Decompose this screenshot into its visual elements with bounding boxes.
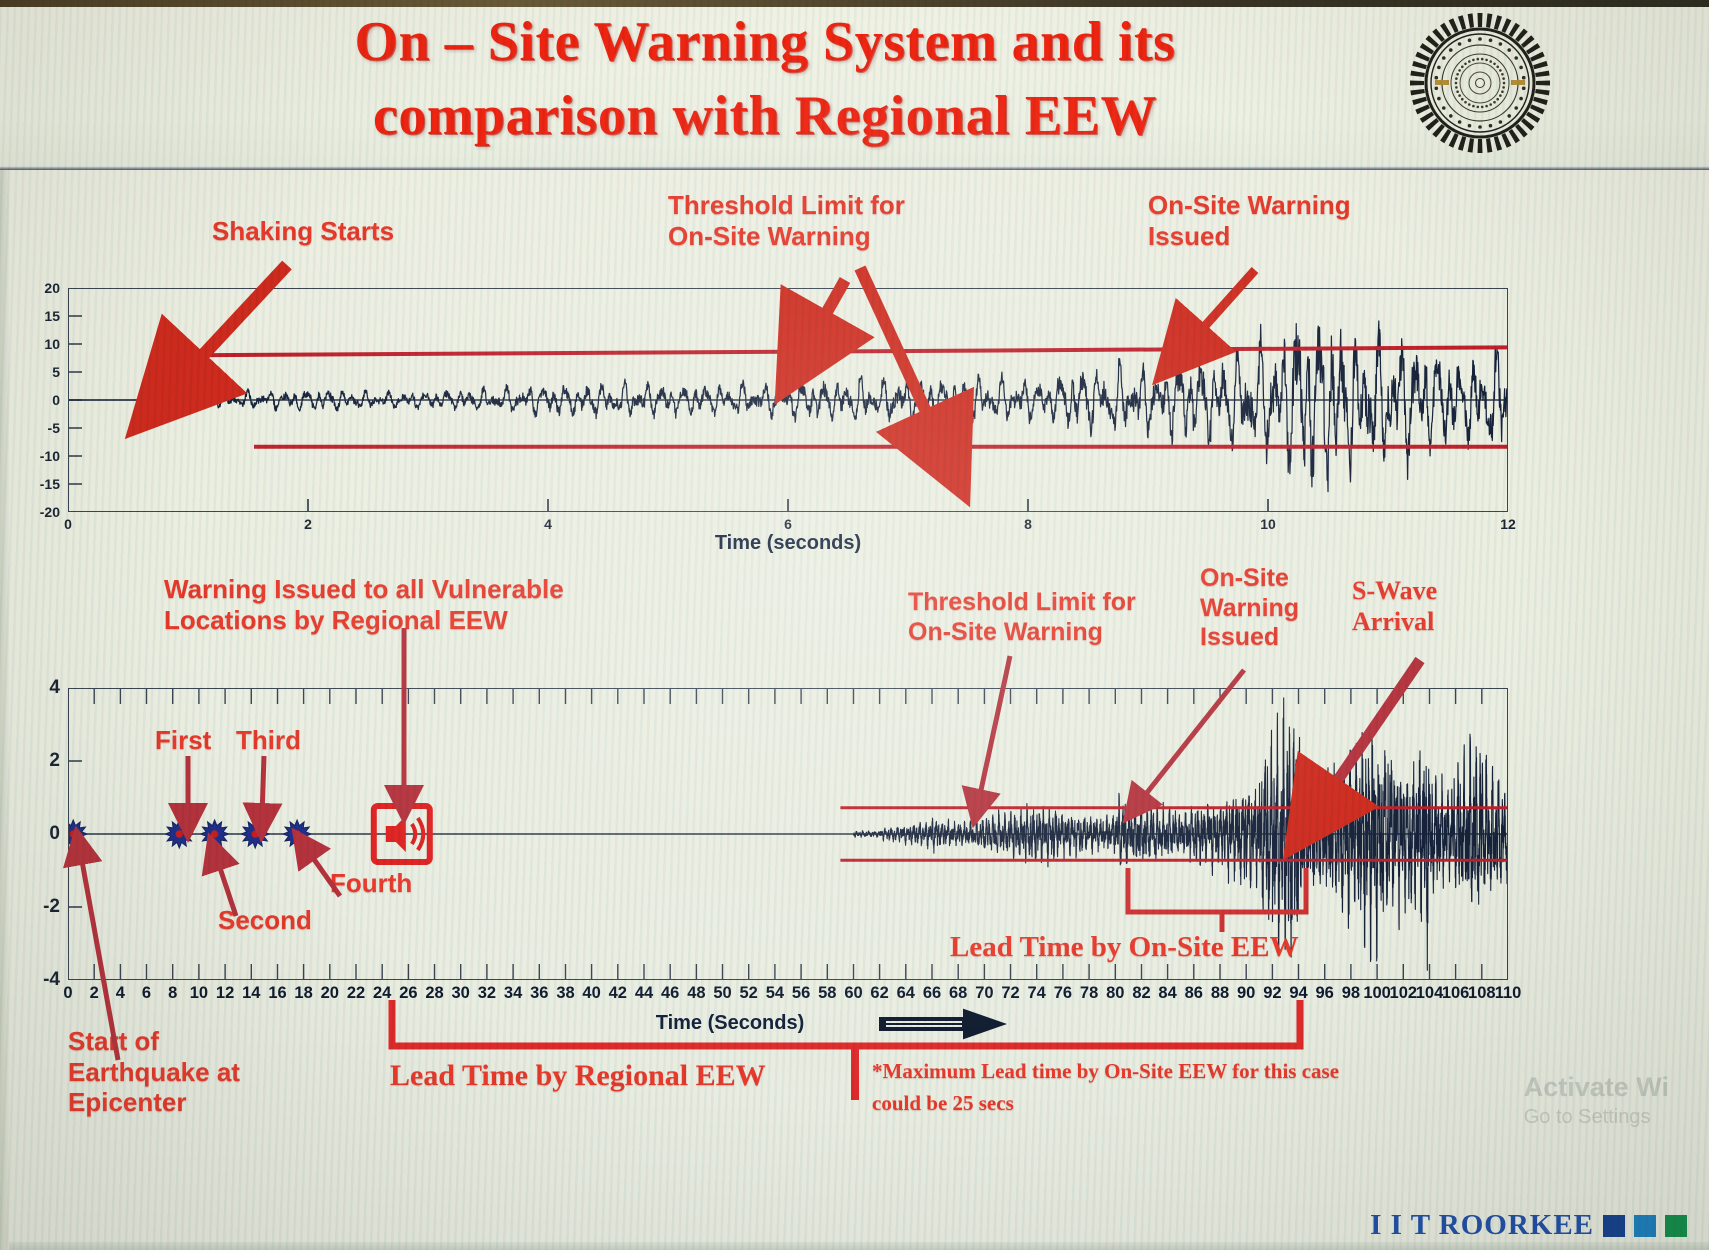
x-tick-label: 24 (373, 984, 391, 1003)
x-tick-label: 58 (818, 984, 836, 1003)
x-tick-label: 110 (1495, 984, 1522, 1003)
x-tick-label: 76 (1054, 984, 1072, 1003)
x-tick-label: 64 (897, 984, 915, 1003)
y-tick-label: 20 (44, 280, 60, 296)
annotation-fourth: Fourth (330, 868, 412, 899)
x-tick-label: 102 (1390, 984, 1418, 1003)
annotation-first: First (155, 725, 211, 756)
x-tick-label: 30 (452, 984, 470, 1003)
y-tick-label: -5 (48, 420, 60, 436)
windows-activate-watermark: Activate Wi Go to Settings (1524, 1071, 1669, 1130)
top-chart-accelerogram (68, 288, 1508, 512)
annotation-third: Third (236, 725, 301, 756)
annotation-threshold-limit-bottom: Threshold Limit for On-Site Warning (908, 588, 1188, 647)
x-tick-label: 80 (1106, 984, 1124, 1003)
bottom-chart-y-tick-labels: 420-2-4 (14, 688, 60, 980)
header-divider (0, 166, 1709, 170)
x-tick-label: 8 (1024, 516, 1032, 532)
page-title-line1: On – Site Warning System and its (150, 6, 1380, 80)
x-tick-label: 62 (870, 984, 888, 1003)
x-tick-label: 48 (687, 984, 705, 1003)
bottom-chart-x-axis-title: Time (Seconds) (560, 1012, 900, 1035)
x-tick-label: 104 (1416, 984, 1444, 1003)
annotation-shaking-starts: Shaking Starts (212, 216, 512, 247)
x-tick-label: 106 (1442, 984, 1470, 1003)
x-tick-label: 12 (1500, 516, 1516, 532)
top-chart-axis-frame (68, 288, 1508, 512)
y-tick-label: 5 (52, 364, 60, 380)
x-tick-label: 28 (425, 984, 443, 1003)
annotation-warning-issued-regional: Warning Issued to all Vulnerable Locatio… (164, 574, 684, 635)
page-title-line2: comparison with Regional EEW (150, 80, 1380, 154)
x-tick-label: 92 (1263, 984, 1281, 1003)
x-tick-label: 100 (1363, 984, 1391, 1003)
x-tick-label: 10 (190, 984, 208, 1003)
annotation-lead-time-onsite: Lead Time by On-Site EEW (950, 930, 1299, 964)
x-tick-label: 60 (844, 984, 862, 1003)
x-tick-label: 68 (949, 984, 967, 1003)
slide-header: On – Site Warning System and its compari… (0, 0, 1709, 170)
x-tick-label: 82 (1132, 984, 1150, 1003)
x-tick-label: 32 (478, 984, 496, 1003)
annotation-onsite-warning-issued-top: On-Site Warning Issued (1148, 190, 1448, 251)
brand-text: I I T ROORKEE (1370, 1209, 1594, 1242)
x-tick-label: 26 (399, 984, 417, 1003)
x-tick-label: 6 (784, 516, 792, 532)
x-tick-label: 72 (1001, 984, 1019, 1003)
y-tick-label: 0 (52, 392, 60, 408)
x-tick-label: 42 (609, 984, 627, 1003)
annotation-start-of-earthquake: Start of Earthquake at Epicenter (68, 1026, 318, 1118)
y-tick-label: 0 (49, 823, 60, 845)
x-tick-label: 66 (923, 984, 941, 1003)
x-tick-label: 84 (1158, 984, 1176, 1003)
x-tick-label: 4 (544, 516, 552, 532)
y-tick-label: -15 (40, 476, 60, 492)
page-title: On – Site Warning System and its compari… (150, 6, 1380, 154)
x-tick-label: 14 (242, 984, 260, 1003)
annotation-lead-time-regional: Lead Time by Regional EEW (390, 1058, 766, 1093)
left-edge-shadow (0, 170, 9, 1250)
x-tick-label: 108 (1468, 984, 1496, 1003)
brand-square-2 (1634, 1215, 1656, 1237)
x-tick-label: 0 (63, 984, 72, 1003)
x-tick-label: 54 (766, 984, 784, 1003)
x-tick-label: 90 (1237, 984, 1255, 1003)
x-tick-label: 36 (530, 984, 548, 1003)
x-tick-label: 40 (582, 984, 600, 1003)
y-tick-label: 15 (44, 308, 60, 324)
x-tick-label: 88 (1211, 984, 1229, 1003)
x-tick-label: 74 (1028, 984, 1046, 1003)
x-tick-label: 12 (216, 984, 234, 1003)
top-chart-y-tick-labels: 20151050-5-10-15-20 (14, 288, 60, 512)
y-tick-label: -10 (40, 448, 60, 464)
x-tick-label: 98 (1342, 984, 1360, 1003)
x-tick-label: 20 (321, 984, 339, 1003)
x-tick-label: 50 (713, 984, 731, 1003)
x-tick-label: 10 (1260, 516, 1276, 532)
x-tick-label: 52 (740, 984, 758, 1003)
y-tick-label: -20 (40, 504, 60, 520)
x-tick-label: 4 (116, 984, 125, 1003)
footer-brand: I I T ROORKEE (1370, 1209, 1687, 1242)
x-tick-label: 16 (268, 984, 286, 1003)
footer-rule (0, 1242, 1709, 1250)
annotation-s-wave-arrival: S-Wave Arrival (1352, 576, 1532, 637)
x-tick-label: 46 (661, 984, 679, 1003)
x-tick-label: 44 (635, 984, 653, 1003)
x-tick-label: 34 (504, 984, 522, 1003)
x-tick-label: 0 (64, 516, 72, 532)
x-tick-label: 6 (142, 984, 151, 1003)
annotation-footnote-max-lead-time: *Maximum Lead time by On-Site EEW for th… (872, 1056, 1352, 1119)
x-tick-label: 22 (347, 984, 365, 1003)
y-tick-label: 10 (44, 336, 60, 352)
x-tick-label: 78 (1080, 984, 1098, 1003)
iit-roorkee-emblem-icon (1405, 8, 1555, 158)
x-tick-label: 94 (1289, 984, 1307, 1003)
y-tick-label: 4 (49, 677, 60, 699)
annotation-second: Second (218, 905, 312, 936)
x-tick-label: 86 (1185, 984, 1203, 1003)
bottom-chart-x-tick-labels: 0246810121416182022242628303234363840424… (50, 984, 1530, 1010)
x-tick-label: 38 (556, 984, 574, 1003)
brand-square-1 (1603, 1215, 1625, 1237)
x-tick-label: 2 (304, 516, 312, 532)
annotation-threshold-limit-top: Threshold Limit for On-Site Warning (668, 190, 998, 251)
x-tick-label: 70 (975, 984, 993, 1003)
top-chart-x-axis-title: Time (seconds) (68, 532, 1508, 555)
x-tick-label: 2 (90, 984, 99, 1003)
x-tick-label: 56 (792, 984, 810, 1003)
brand-square-3 (1665, 1215, 1687, 1237)
y-tick-label: 2 (49, 750, 60, 772)
x-tick-label: 18 (294, 984, 312, 1003)
annotation-onsite-warning-issued-bottom: On-Site Warning Issued (1200, 564, 1350, 653)
slide-canvas: On – Site Warning System and its compari… (0, 0, 1709, 1250)
x-tick-label: 96 (1316, 984, 1334, 1003)
x-tick-label: 8 (168, 984, 177, 1003)
y-tick-label: -2 (43, 896, 60, 918)
